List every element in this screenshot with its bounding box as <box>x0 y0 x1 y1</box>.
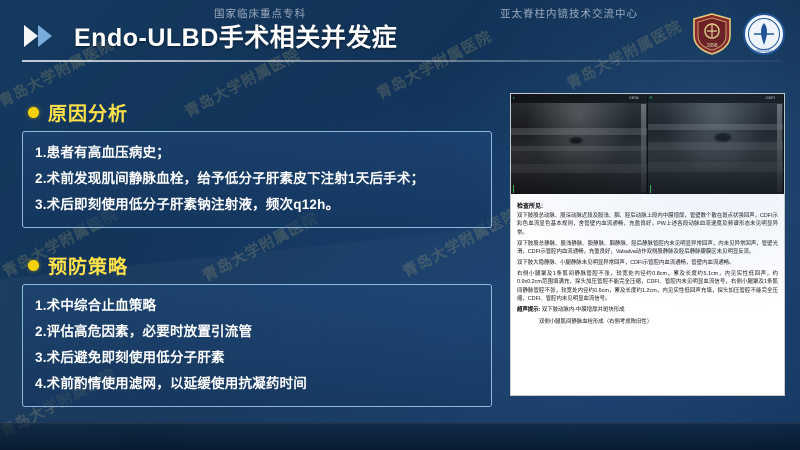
report-paragraph: 双下肢股总动脉、股深动脉近段及股浅、腘、胫后动脉上段内中膜增厚，管壁数个散在斑点… <box>517 212 778 237</box>
footer-right-text: 亚太脊柱内镜技术交流中心 <box>500 6 638 21</box>
section-heading-strategy: 预防策略 <box>28 252 128 279</box>
ultrasound-report-panel: L VEIN R CDFI 检查所见: 双下肢股总动脉、股深动脉近段及股浅、腘、… <box>510 93 785 396</box>
bullet-dot-icon <box>28 260 39 271</box>
cause-analysis-box: 1.患者有高血压病史； 2.术前发现肌间静脉血栓，给予低分子肝素皮下注射1天后手… <box>22 131 492 228</box>
list-item: 4.术前酌情使用滤网，以延缓使用抗凝药时间 <box>35 371 479 397</box>
image-marker-left: VEIN <box>629 95 638 100</box>
list-item: 1.术中综合止血策略 <box>35 293 479 319</box>
svg-text:QINGDAO: QINGDAO <box>756 49 773 53</box>
header-divider <box>22 60 782 62</box>
list-item: 3.术后即刻使用低分子肝素钠注射液，频次q12h。 <box>35 192 479 218</box>
list-item: 2.术前发现肌间静脉血栓，给予低分子肝素皮下注射1天后手术； <box>35 166 479 192</box>
report-conclusion-label: 超声提示: <box>517 307 540 313</box>
list-item: 3.术后避免即刻使用低分子肝素 <box>35 345 479 371</box>
ultrasound-image-strip: L VEIN R CDFI <box>511 94 784 194</box>
ultrasound-image-left: L VEIN <box>511 94 648 194</box>
svg-text:1898: 1898 <box>706 43 717 49</box>
section-label: 预防策略 <box>48 252 128 279</box>
footer-bar <box>0 423 800 450</box>
section-heading-cause: 原因分析 <box>28 99 128 126</box>
ultrasound-image-right: R CDFI <box>648 94 785 194</box>
page-title: Endo-ULBD手术相关并发症 <box>74 18 397 54</box>
section-label: 原因分析 <box>48 99 128 126</box>
image-label-left: L <box>513 95 515 100</box>
hospital-round-logo: QINGDAO <box>742 12 786 56</box>
report-paragraph: 右侧小腿聚及1条肌间静脉管腔不张，较宽处内径约0.8cm，累及长度约5.1cm，… <box>517 270 778 304</box>
university-crest-logo: 1898 <box>690 12 734 56</box>
image-marker-right: CDFI <box>766 95 775 100</box>
footer-left-text: 国家临床重点专科 <box>214 6 306 21</box>
double-chevron-right-icon <box>22 23 64 49</box>
report-text-body: 检查所见: 双下肢股总动脉、股深动脉近段及股浅、腘、胫后动脉上段内中膜增厚，管壁… <box>511 194 784 330</box>
prevention-strategy-box: 1.术中综合止血策略 2.评估高危因素，必要时放置引流管 3.术后避免即刻使用低… <box>22 284 492 407</box>
report-paragraph: 双下肢大隐静脉、小腿静脉未见明显异常回声，CDFI示管腔内血流通畅，管壁内血流通… <box>517 259 778 267</box>
report-section-title: 检查所见: <box>517 201 778 210</box>
slide-header: Endo-ULBD手术相关并发症 1898 QINGDA <box>0 10 800 62</box>
report-conclusion-line: 双下肢动脉内-中膜增厚并斑块形成 <box>542 307 625 313</box>
image-label-right: R <box>650 95 653 100</box>
bullet-dot-icon <box>28 107 39 118</box>
title-bar: Endo-ULBD手术相关并发症 <box>22 18 397 54</box>
list-item: 1.患者有高血压病史； <box>35 140 479 166</box>
slide: 青岛大学附属医院 青岛大学附属医院 青岛大学附属医院 青岛大学附属医院 青岛大学… <box>0 0 800 450</box>
logo-group: 1898 QINGDAO <box>690 12 786 56</box>
report-paragraph: 双下肢股总静脉、股浅静脉、股静脉、腘静脉、胫后静脉管腔内未见明显异常回声，内未见… <box>517 240 778 257</box>
list-item: 2.评估高危因素，必要时放置引流管 <box>35 319 479 345</box>
report-conclusion: 超声提示: 双下肢动脉内-中膜增厚并斑块形成 <box>517 306 778 314</box>
report-conclusion-line-2: 双侧小腿肌间静脉血栓形成（右侧考虑陈旧性） <box>517 318 778 326</box>
